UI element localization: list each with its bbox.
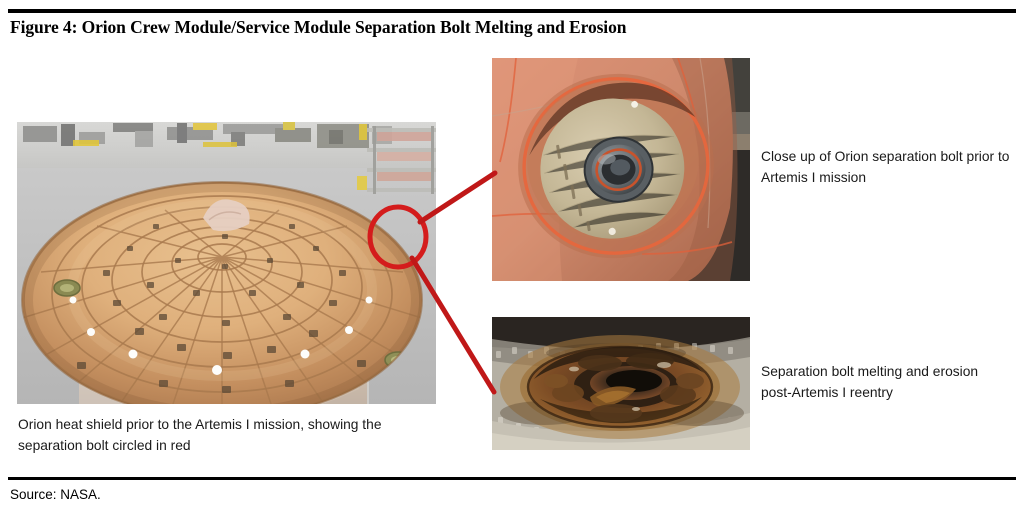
caption-heat-shield: Orion heat shield prior to the Artemis I…: [18, 414, 438, 456]
photo-separation-bolt-eroded: [492, 317, 750, 450]
photo-orion-heat-shield: [17, 122, 436, 404]
bottom-horizontal-rule: [8, 477, 1016, 480]
bolt-close-up-image: [492, 58, 750, 281]
bolt-eroded-image: [492, 317, 750, 450]
figure-title: Figure 4: Orion Crew Module/Service Modu…: [10, 17, 1000, 37]
top-horizontal-rule: [8, 9, 1016, 13]
source-note: Source: NASA.: [10, 486, 101, 503]
caption-bolt-close-up: Close up of Orion separation bolt prior …: [761, 146, 1011, 188]
caption-bolt-eroded: Separation bolt melting and erosion post…: [761, 361, 1011, 403]
heat-shield-image: [17, 122, 436, 404]
photo-separation-bolt-close-up: [492, 58, 750, 281]
